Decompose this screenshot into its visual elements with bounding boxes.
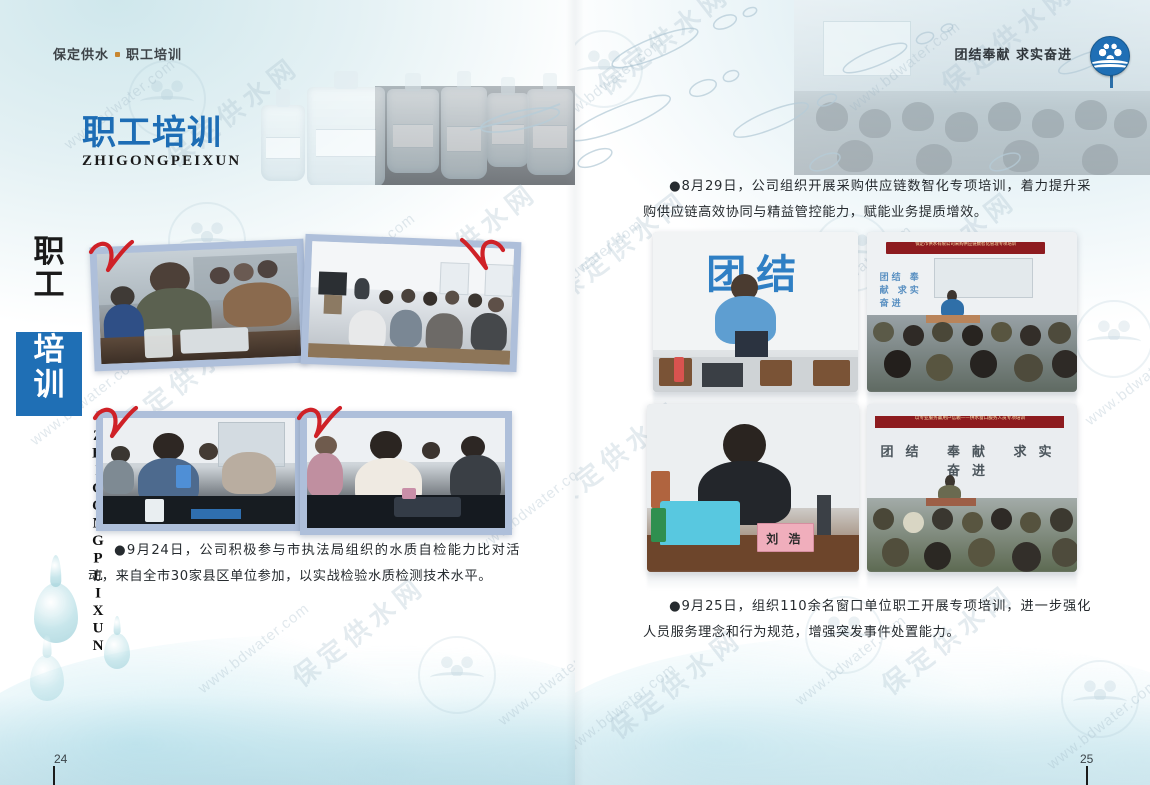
baoding-water-logo-icon	[1090, 36, 1130, 76]
photo-instrument-test[interactable]	[300, 411, 512, 535]
brochure-spread: www.bdwater.com 保定供水网 www.bdwater.com 保定…	[0, 0, 1150, 785]
breadcrumb-section: 职工培训	[126, 48, 182, 63]
photo-training-room[interactable]	[301, 234, 522, 372]
breadcrumb-company: 保定供水	[53, 48, 109, 63]
page-spine	[566, 0, 584, 785]
vtab-char-1: 职	[16, 236, 82, 269]
photo-auditorium-window[interactable]: 以专业服务赢用户信赖——供水窗口服务人员专项培训 团结 奉献 求实 奋进	[867, 404, 1077, 572]
right-top-caption: ●8月29日，公司组织开展采购供应链数智化专项培训，着力提升采购供应链高效协同与…	[643, 174, 1091, 227]
wall-text-slogan: 团结 奉献 求实 奋进	[880, 270, 930, 309]
page-number-rule	[1086, 766, 1088, 785]
section-title-pinyin: ZHIGONGPEIXUN	[82, 153, 241, 170]
photo-lab-sampling[interactable]	[89, 239, 308, 372]
right-page: 保定供水网 www.bdwater.com 保定供水网 www.bdwater.…	[575, 0, 1150, 785]
page-number-right: 25	[1080, 752, 1093, 766]
water-droplet-trail	[575, 0, 1150, 175]
photo-pipetting[interactable]	[96, 411, 302, 531]
page-number-rule	[53, 766, 55, 785]
section-title-cn: 职工培训	[82, 116, 241, 150]
right-bottom-caption: ●9月25日，组织110余名窗口单位职工开展专项培训，进一步强化人员服务理念和行…	[643, 594, 1091, 647]
section-title: 职工培训 ZHIGONGPEIXUN	[82, 116, 241, 170]
wall-text-slogan: 团结 奉献 求实 奋进	[875, 441, 1068, 479]
banner-text-supplychain: 保定市供水有限公司采购供应链数智化管理专项培训	[886, 242, 1046, 255]
vertical-section-tab: 职 工 培 训 ZHIGONGPEIXUN	[16, 236, 82, 302]
banner-text-window-service: 以专业服务赢用户信赖——供水窗口服务人员专项培训	[875, 416, 1064, 428]
photo-audience-supplychain[interactable]: 保定市供水有限公司采购供应链数智化管理专项培训 团结 奉献 求实 奋进	[867, 232, 1077, 392]
vtab-highlight: 培 训	[16, 332, 82, 416]
wall-text-tuanjie: 团结	[706, 242, 841, 300]
vtab-char-4: 训	[16, 367, 82, 402]
photo-speaker-desk[interactable]: 刘 浩	[647, 404, 859, 572]
page-number-left: 24	[54, 752, 67, 766]
photo-lecturer-tuanjie[interactable]: 团结	[653, 232, 858, 392]
vtab-char-3: 培	[16, 332, 82, 367]
breadcrumb: 保定供水职工培训	[53, 44, 182, 63]
right-banner-image	[575, 0, 1150, 175]
breadcrumb-separator-icon	[115, 52, 120, 57]
vtab-char-2: 工	[16, 269, 82, 302]
nameplate-text: 刘 浩	[757, 525, 812, 552]
left-page-caption: ●9月24日，公司积极参与市执法局组织的水质自检能力比对活动，来自全市30家县区…	[88, 538, 520, 591]
header-slogan: 团结奉献 求实奋进	[954, 44, 1072, 63]
left-page: www.bdwater.com 保定供水网 www.bdwater.com 保定…	[0, 0, 575, 785]
